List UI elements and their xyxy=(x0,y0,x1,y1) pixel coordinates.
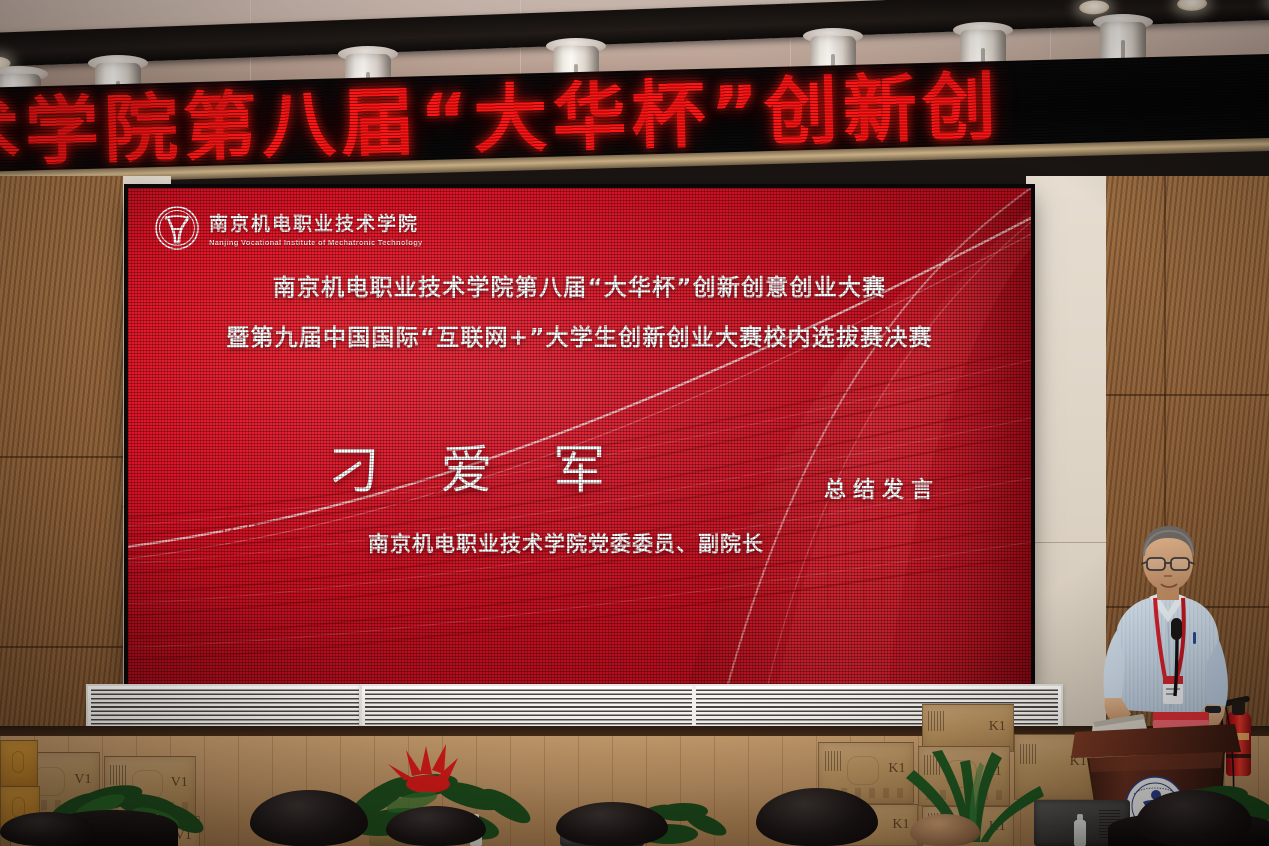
school-emblem-icon xyxy=(153,204,201,252)
photo-scene: 术学院第八届“大华杯”创新创 xyxy=(0,0,1269,846)
speaker-figure xyxy=(1104,526,1228,732)
recessed-light-icon xyxy=(1079,0,1109,15)
audience-head xyxy=(386,806,486,846)
event-title-line-2: 暨第九届中国国际“互联网+”大学生创新创业大赛校内选拔赛决赛 xyxy=(128,318,1031,352)
recessed-light-icon xyxy=(1177,0,1207,11)
event-title-line-1: 南京机电职业技术学院第八届“大华杯”创新创意创业大赛 xyxy=(128,268,1031,302)
product-box-orange xyxy=(0,740,38,788)
speaker-role: 南京机电职业技术学院党委委员、副院长 xyxy=(368,528,764,558)
speech-type-label: 总结发言 xyxy=(824,472,940,504)
audience-head xyxy=(910,814,980,846)
event-title-block: 南京机电职业技术学院第八届“大华杯”创新创意创业大赛 暨第九届中国国际“互联网+… xyxy=(128,268,1031,352)
box-label: K1 xyxy=(989,719,1006,735)
audience-head xyxy=(556,802,668,846)
school-logo: 南京机电职业技术学院 Nanjing Vocational Institute … xyxy=(153,204,422,252)
stage-led-screen: 南京机电职业技术学院 Nanjing Vocational Institute … xyxy=(128,188,1031,684)
speaker-name: 刁 爱 军 xyxy=(328,428,627,503)
school-logo-chinese: 南京机电职业技术学院 xyxy=(209,209,422,236)
audience-head xyxy=(0,812,96,846)
school-logo-english: Nanjing Vocational Institute of Mechatro… xyxy=(209,238,422,247)
water-bottle xyxy=(1074,820,1086,846)
